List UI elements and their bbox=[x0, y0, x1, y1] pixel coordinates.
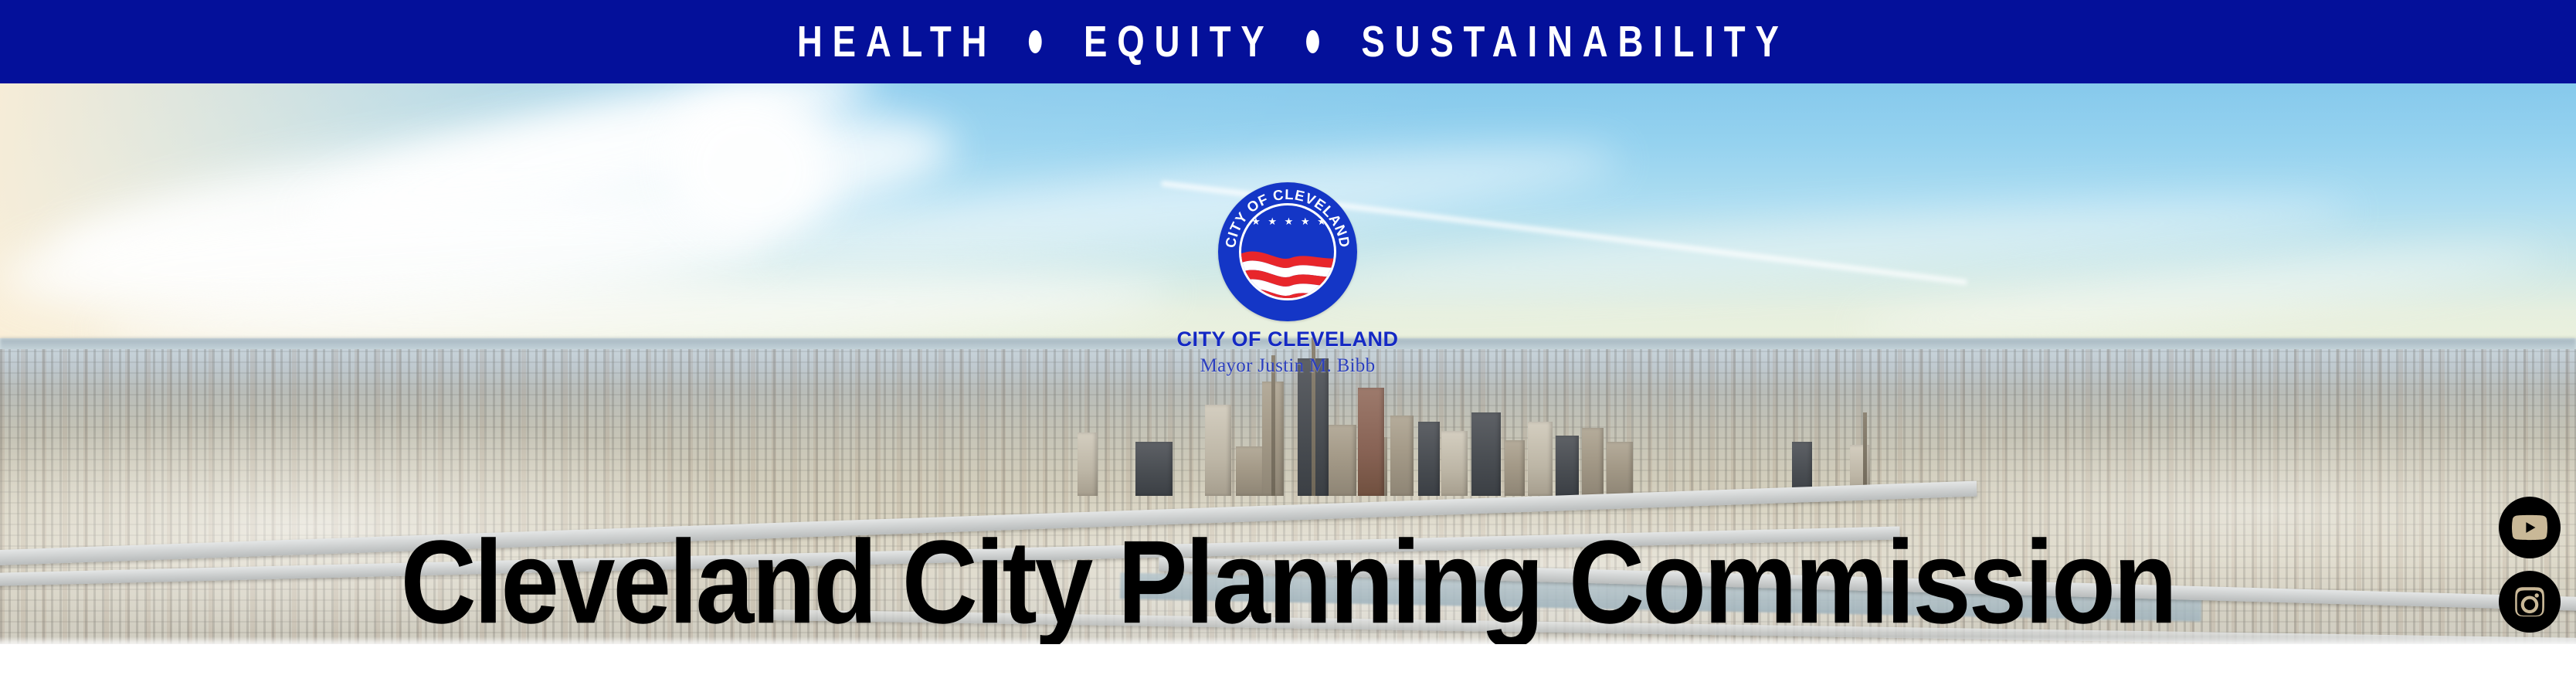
building bbox=[1358, 388, 1384, 496]
tagline-banner: HEALTH EQUITY SUSTAINABILITY bbox=[0, 0, 2576, 83]
tagline-inner: HEALTH EQUITY SUSTAINABILITY bbox=[787, 20, 1789, 64]
american-flag-icon bbox=[1239, 239, 1336, 300]
building bbox=[1607, 442, 1633, 496]
building bbox=[1418, 422, 1440, 496]
instagram-icon bbox=[2512, 584, 2547, 619]
broadcast-mast bbox=[1863, 412, 1867, 496]
youtube-icon bbox=[2512, 510, 2547, 545]
building bbox=[1078, 433, 1098, 496]
logo-caption: CITY OF CLEVELAND bbox=[1095, 327, 1481, 351]
social-media-rail bbox=[2499, 497, 2561, 644]
building bbox=[1556, 436, 1579, 496]
tagline-word-equity: EQUITY bbox=[1074, 20, 1274, 64]
building bbox=[1528, 422, 1553, 496]
city-of-cleveland-logo[interactable]: CITY OF CLEVELAND OHIO ★ ★ ★ ★ ★ bbox=[1095, 182, 1481, 377]
tagline-word-health: HEALTH bbox=[787, 20, 996, 64]
building bbox=[1205, 405, 1231, 496]
page-root: HEALTH EQUITY SUSTAINABILITY bbox=[0, 0, 2576, 682]
building bbox=[1471, 412, 1501, 496]
bullet-dot-icon bbox=[1306, 30, 1319, 53]
building bbox=[1135, 442, 1173, 496]
building bbox=[1390, 416, 1414, 496]
building bbox=[1505, 440, 1525, 496]
city-seal-icon: CITY OF CLEVELAND OHIO ★ ★ ★ ★ ★ bbox=[1218, 182, 1357, 321]
social-link-youtube[interactable] bbox=[2499, 497, 2561, 558]
seal-inner-disc: ★ ★ ★ ★ ★ bbox=[1239, 203, 1336, 300]
logo-subcaption: Mayor Justin M. Bibb bbox=[1095, 355, 1481, 377]
page-title: Cleveland City Planning Commission bbox=[0, 531, 2576, 633]
seal-stars-icon: ★ ★ ★ ★ ★ bbox=[1241, 216, 1336, 226]
hero-photo: CITY OF CLEVELAND OHIO ★ ★ ★ ★ ★ bbox=[0, 83, 2576, 644]
building bbox=[1441, 431, 1468, 496]
bullet-dot-icon bbox=[1029, 30, 1042, 53]
page-title-text: Cleveland City Planning Commission bbox=[401, 523, 2175, 641]
building bbox=[1582, 428, 1604, 496]
tagline-word-sustainability: SUSTAINABILITY bbox=[1352, 20, 1789, 64]
social-link-instagram[interactable] bbox=[2499, 571, 2561, 633]
page-bottom-whitespace bbox=[0, 644, 2576, 682]
